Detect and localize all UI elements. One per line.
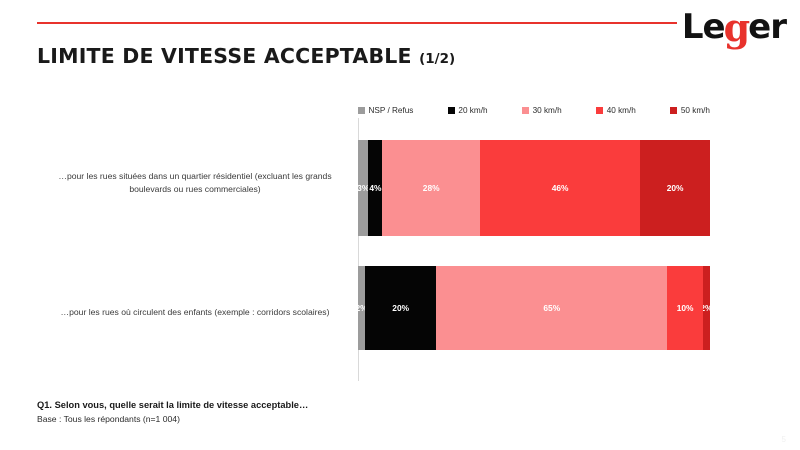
- logo-text-part1: Le: [682, 7, 725, 47]
- legend-swatch-icon: [448, 107, 455, 114]
- bar-segment-value: 2%: [358, 303, 365, 313]
- footer-base: Base : Tous les répondants (n=1 004): [37, 414, 308, 424]
- footer-question: Q1. Selon vous, quelle serait la limite …: [37, 400, 308, 410]
- legend-item[interactable]: 30 km/h: [522, 106, 562, 115]
- legend-label: 30 km/h: [533, 106, 562, 115]
- legend-item[interactable]: NSP / Refus: [358, 106, 413, 115]
- bar-segment[interactable]: 10%: [667, 266, 703, 350]
- bar-segment[interactable]: 28%: [382, 140, 480, 236]
- page-title: LIMITE DE VITESSE ACCEPTABLE (1/2): [37, 44, 455, 68]
- stacked-bar: 2%20%65%10%2%: [358, 266, 710, 350]
- bar-segment-value: 65%: [543, 303, 560, 313]
- logo-text-part2: g: [724, 5, 750, 50]
- legend-item[interactable]: 20 km/h: [448, 106, 488, 115]
- bar-segment[interactable]: 20%: [365, 266, 436, 350]
- bar-segment-value: 20%: [667, 183, 684, 193]
- bar-segment[interactable]: 46%: [480, 140, 640, 236]
- bar-segment[interactable]: 2%: [703, 266, 710, 350]
- slide: Leger LIMITE DE VITESSE ACCEPTABLE (1/2)…: [0, 0, 800, 450]
- legend-swatch-icon: [522, 107, 529, 114]
- legend-label: 50 km/h: [681, 106, 710, 115]
- legend-swatch-icon: [358, 107, 365, 114]
- leger-logo: Leger: [682, 4, 786, 46]
- category-label: …pour les rues situées dans un quartier …: [40, 170, 350, 195]
- bar-segment[interactable]: 3%: [358, 140, 368, 236]
- legend-swatch-icon: [670, 107, 677, 114]
- footer: Q1. Selon vous, quelle serait la limite …: [37, 400, 308, 424]
- bar-segment-value: 20%: [392, 303, 409, 313]
- logo-text-part3: er: [748, 7, 786, 47]
- bar-segment-value: 10%: [677, 303, 694, 313]
- chart-bar-row: …pour les rues où circulent des enfants …: [0, 266, 800, 350]
- bar-segment[interactable]: 4%: [368, 140, 382, 236]
- chart-legend: NSP / Refus20 km/h30 km/h40 km/h50 km/h: [358, 106, 710, 115]
- bar-segment[interactable]: 65%: [436, 266, 667, 350]
- page-title-main: LIMITE DE VITESSE ACCEPTABLE: [37, 44, 412, 68]
- legend-label: NSP / Refus: [369, 106, 414, 115]
- page-title-suffix: (1/2): [419, 51, 455, 67]
- legend-item[interactable]: 40 km/h: [596, 106, 636, 115]
- category-label: …pour les rues où circulent des enfants …: [40, 306, 350, 319]
- chart-plot-area: …pour les rues situées dans un quartier …: [0, 118, 800, 388]
- page-number: 5: [782, 435, 786, 444]
- stacked-bar: 3%4%28%46%20%: [358, 140, 710, 236]
- bar-segment[interactable]: 20%: [640, 140, 710, 236]
- bar-segment-value: 46%: [552, 183, 569, 193]
- legend-item[interactable]: 50 km/h: [670, 106, 710, 115]
- bar-segment[interactable]: 2%: [358, 266, 365, 350]
- legend-label: 40 km/h: [607, 106, 636, 115]
- bar-segment-value: 3%: [358, 183, 368, 193]
- legend-label: 20 km/h: [458, 106, 487, 115]
- bar-segment-value: 28%: [423, 183, 440, 193]
- bar-segment-value: 2%: [703, 303, 710, 313]
- bar-segment-value: 4%: [369, 183, 381, 193]
- header-rule: [37, 22, 677, 24]
- legend-swatch-icon: [596, 107, 603, 114]
- chart-bar-row: …pour les rues situées dans un quartier …: [0, 140, 800, 236]
